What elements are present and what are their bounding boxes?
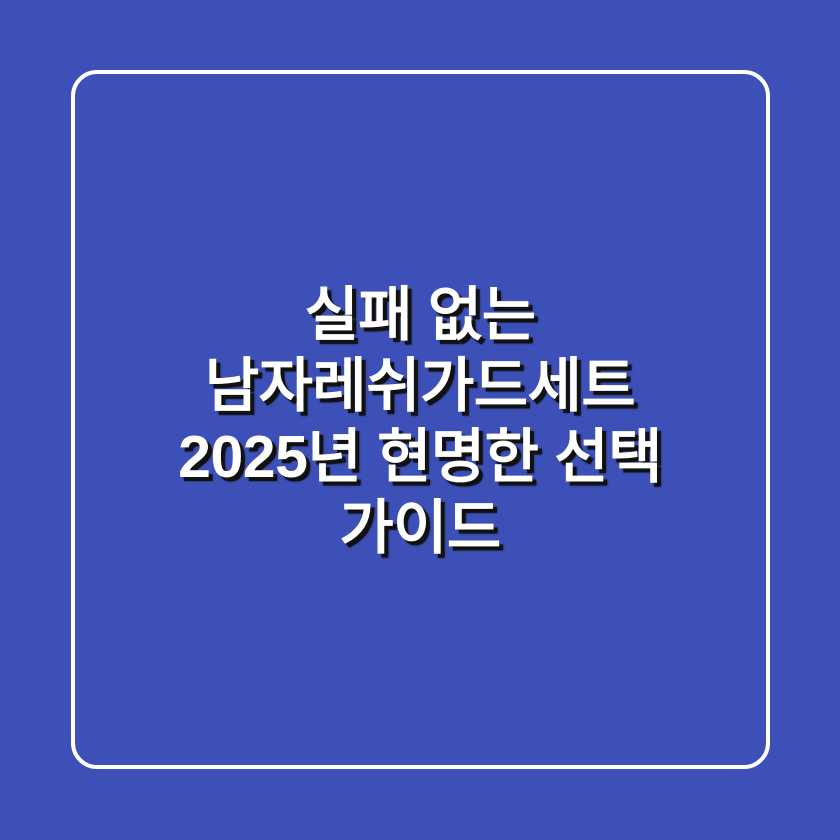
title-block: 실패 없는 남자레쉬가드세트 2025년 현명한 선택 가이드 — [0, 0, 840, 840]
thumbnail-card: 실패 없는 남자레쉬가드세트 2025년 현명한 선택 가이드 — [0, 0, 840, 840]
title-line-4: 가이드 — [0, 493, 840, 564]
title-line-2: 남자레쉬가드세트 — [0, 351, 840, 422]
title-line-3: 2025년 현명한 선택 — [0, 422, 840, 493]
title-line-1: 실패 없는 — [0, 280, 840, 351]
